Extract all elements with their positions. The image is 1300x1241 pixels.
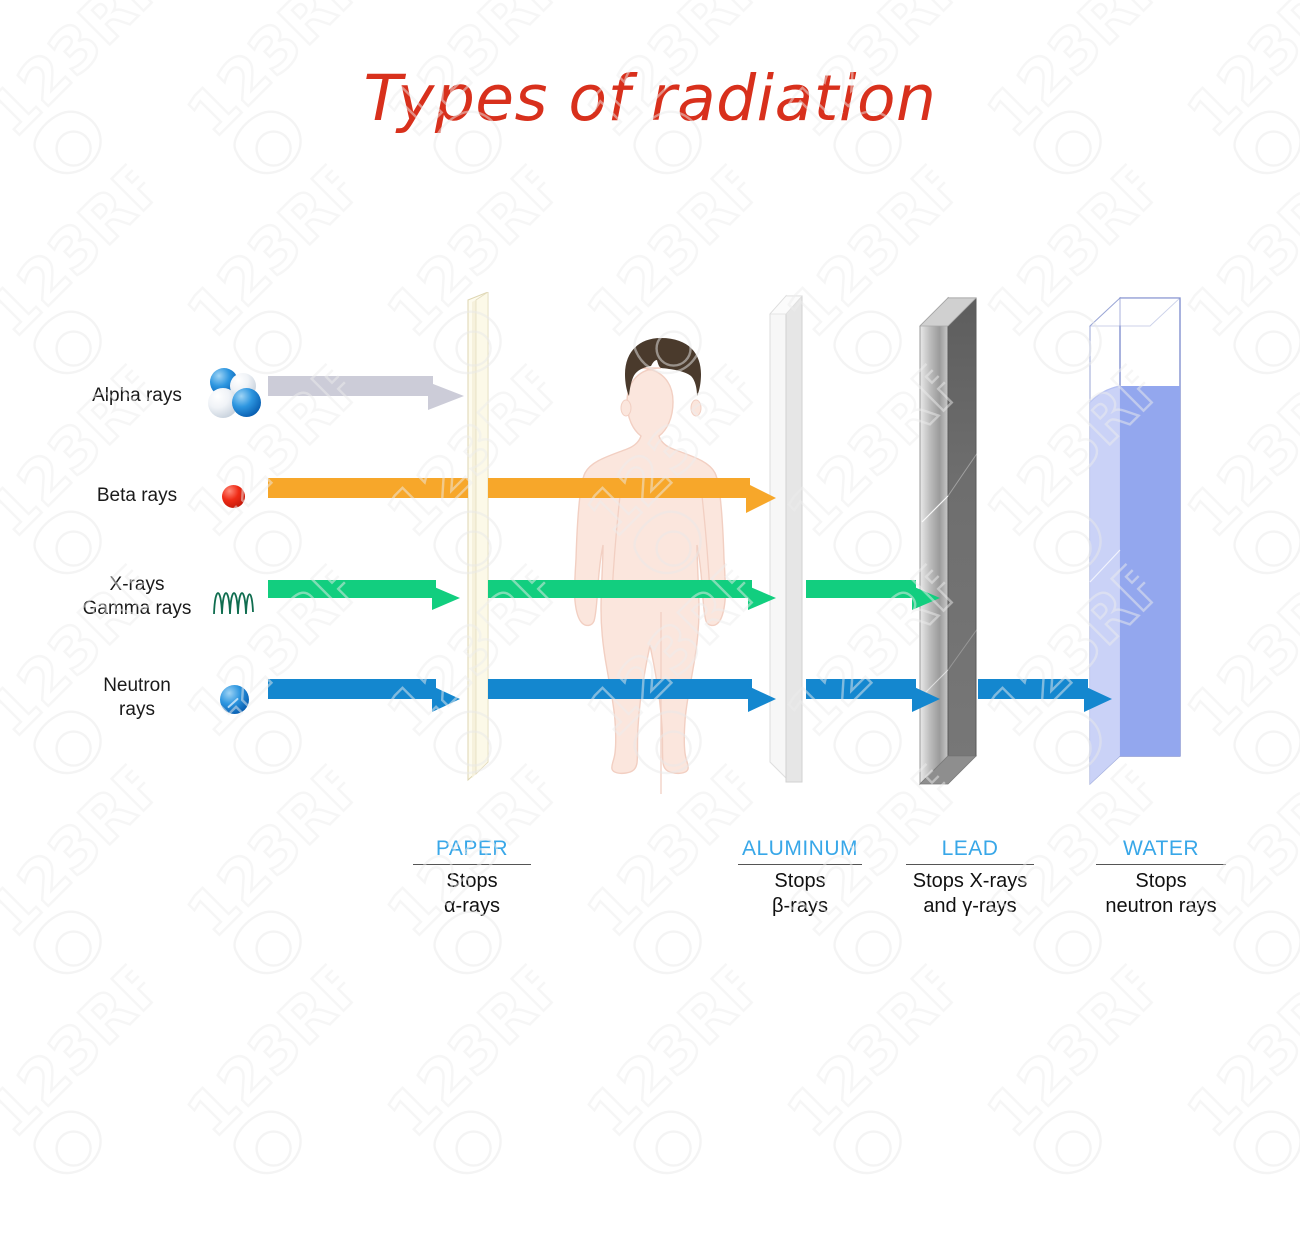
alpha-particle-icon bbox=[208, 368, 266, 426]
row-label-xray-gamma: X-rays Gamma rays bbox=[42, 573, 232, 621]
diagram-stage: Alpha rays Beta rays X-rays Gamma rays N… bbox=[0, 0, 1300, 982]
red-sphere-icon bbox=[222, 485, 246, 509]
barrier-paper bbox=[458, 292, 514, 788]
caption-water-title: WATER bbox=[1068, 836, 1254, 862]
arrow-alpha bbox=[268, 382, 466, 410]
caption-water-line2: neutron rays bbox=[1068, 894, 1254, 919]
arrow-beta-segment-1 bbox=[268, 486, 468, 510]
row-label-alpha-line1: Alpha rays bbox=[42, 384, 232, 408]
row-label-neutron: Neutron rays bbox=[42, 674, 232, 722]
row-label-xray-line1: X-rays bbox=[42, 573, 232, 597]
caption-paper-title: PAPER bbox=[392, 836, 552, 862]
row-label-beta: Beta rays bbox=[42, 484, 232, 508]
sine-wave-icon bbox=[212, 578, 260, 616]
row-label-neutron-line2: rays bbox=[42, 698, 232, 722]
barrier-lead bbox=[918, 292, 992, 788]
caption-aluminum-line2: β-rays bbox=[712, 894, 888, 919]
caption-paper-line2: α-rays bbox=[392, 894, 552, 919]
caption-paper-line1: Stops bbox=[392, 869, 552, 894]
row-label-beta-line1: Beta rays bbox=[42, 484, 232, 508]
barrier-water bbox=[1086, 292, 1190, 788]
row-label-neutron-line1: Neutron bbox=[42, 674, 232, 698]
caption-lead-line1: Stops X-rays bbox=[880, 869, 1060, 894]
arrow-xray-segment-3 bbox=[806, 586, 956, 610]
arrow-neutron-segment-3 bbox=[806, 686, 956, 712]
caption-aluminum-rule bbox=[738, 864, 862, 865]
arrow-neutron-segment-1 bbox=[268, 686, 472, 712]
arrow-neutron-segment-4 bbox=[978, 686, 1128, 712]
caption-water-line1: Stops bbox=[1068, 869, 1254, 894]
arrow-beta-segment-2 bbox=[488, 486, 788, 510]
barrier-aluminum bbox=[766, 292, 820, 788]
row-label-xray-line2: Gamma rays bbox=[42, 597, 232, 621]
caption-paper: PAPER Stops α-rays bbox=[392, 836, 552, 919]
arrow-neutron-segment-2 bbox=[488, 686, 788, 712]
caption-aluminum-title: ALUMINUM bbox=[712, 836, 888, 862]
row-label-alpha: Alpha rays bbox=[42, 384, 232, 408]
caption-paper-rule bbox=[413, 864, 531, 865]
blue-sphere-icon bbox=[220, 685, 250, 715]
caption-lead-rule bbox=[906, 864, 1034, 865]
arrow-xray-segment-1 bbox=[268, 586, 472, 610]
caption-water: WATER Stops neutron rays bbox=[1068, 836, 1254, 919]
child-figure bbox=[556, 330, 766, 800]
caption-lead-title: LEAD bbox=[880, 836, 1060, 862]
caption-aluminum-line1: Stops bbox=[712, 869, 888, 894]
arrow-xray-segment-2 bbox=[488, 586, 788, 610]
caption-lead: LEAD Stops X-rays and γ-rays bbox=[880, 836, 1060, 919]
caption-water-rule bbox=[1096, 864, 1226, 865]
caption-aluminum: ALUMINUM Stops β-rays bbox=[712, 836, 888, 919]
caption-lead-line2: and γ-rays bbox=[880, 894, 1060, 919]
